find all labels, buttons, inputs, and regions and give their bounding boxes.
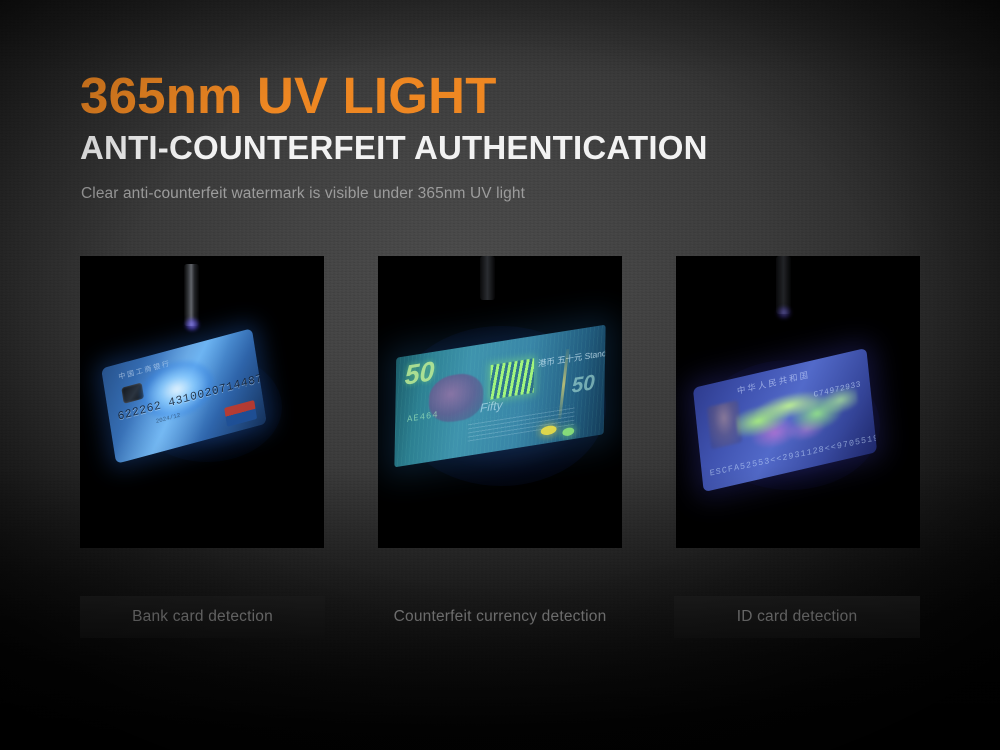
caption-id-card: ID card detection: [674, 596, 920, 638]
page-subtitle: ANTI-COUNTERFEIT AUTHENTICATION: [80, 129, 940, 167]
uv-flashlight-icon: [184, 264, 199, 326]
uv-flashlight-icon: [776, 256, 791, 314]
photo-id-card: 中华人民共和国 C74972933 ESCFA52553<<2931128<<9…: [676, 256, 920, 548]
photo-counterfeit-currency: 50 港币 五十元 Standard Chartered Bank Fifty …: [378, 256, 622, 548]
uv-scene-bank-card: 中国工商银行 622262 4310020714487 2024/12: [80, 256, 324, 548]
photo-bank-card: 中国工商银行 622262 4310020714487 2024/12: [80, 256, 324, 548]
bank-card: 中国工商银行 622262 4310020714487 2024/12: [101, 328, 267, 464]
heading-block: 365nm UV LIGHT ANTI-COUNTERFEIT AUTHENTI…: [80, 68, 940, 203]
slide-canvas: 365nm UV LIGHT ANTI-COUNTERFEIT AUTHENTI…: [0, 0, 1000, 750]
page-title: 365nm UV LIGHT: [80, 68, 940, 123]
uv-scene-banknote: 50 港币 五十元 Standard Chartered Bank Fifty …: [378, 256, 622, 548]
photo-row: 中国工商银行 622262 4310020714487 2024/12 50: [80, 256, 920, 548]
page-description: Clear anti-counterfeit watermark is visi…: [81, 185, 940, 203]
caption-bank-card: Bank card detection: [80, 596, 325, 638]
uv-flashlight-icon: [480, 256, 495, 300]
id-card: 中华人民共和国 C74972933 ESCFA52553<<2931128<<9…: [693, 348, 877, 492]
uv-scene-id-card: 中华人民共和国 C74972933 ESCFA52553<<2931128<<9…: [676, 256, 920, 548]
note-denomination-side: 50: [571, 371, 594, 399]
note-denomination-top: 50: [405, 356, 435, 392]
banknote: 50 港币 五十元 Standard Chartered Bank Fifty …: [394, 325, 605, 468]
caption-counterfeit-currency: Counterfeit currency detection: [372, 596, 628, 638]
fluorescent-security-bars: [490, 358, 534, 399]
caption-row: Bank card detection Counterfeit currency…: [0, 596, 1000, 638]
